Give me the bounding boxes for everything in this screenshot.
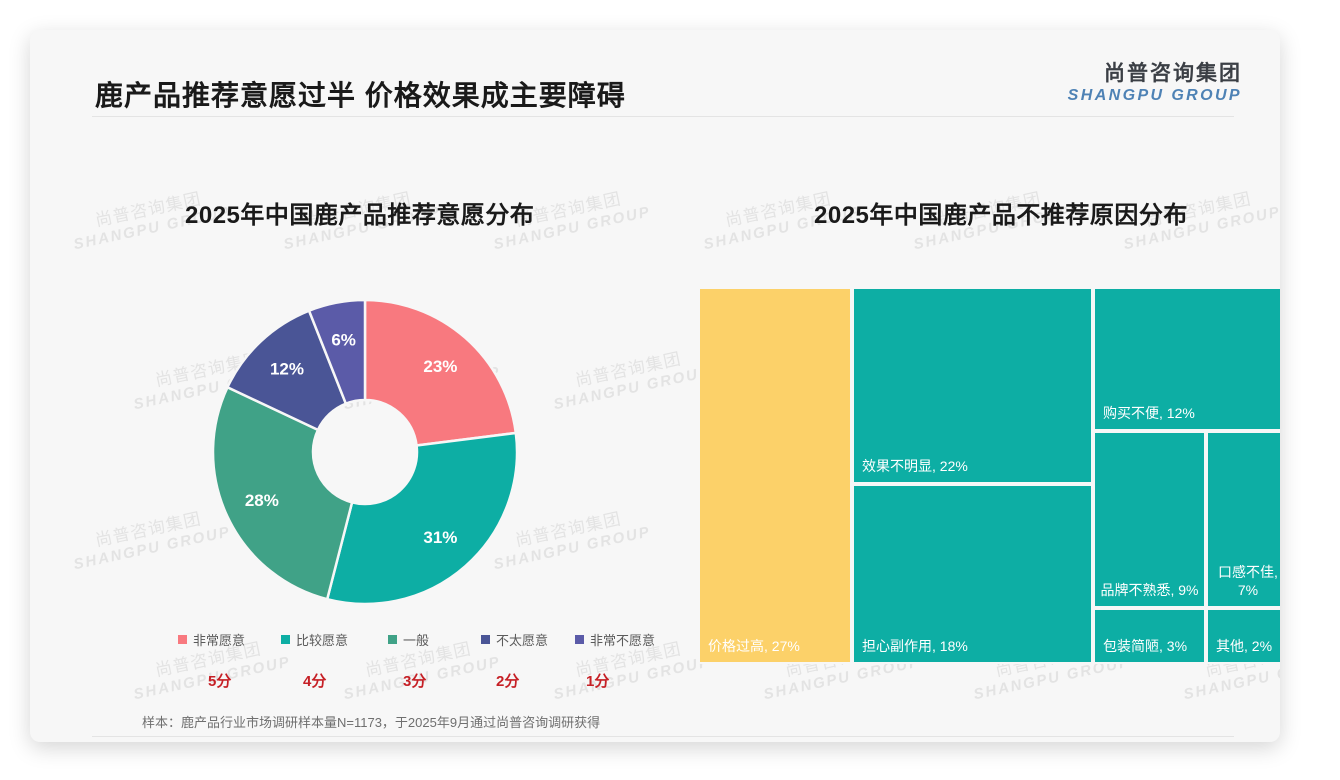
donut-slice-label: 23% [423, 357, 457, 376]
treemap-cell-label: 其他, 2% [1216, 637, 1280, 655]
treemap-cell[interactable]: 口感不佳, 7% [1206, 431, 1280, 608]
donut-slice[interactable] [213, 387, 352, 599]
legend-swatch [481, 635, 490, 644]
legend-swatch [178, 635, 187, 644]
treemap-cell[interactable]: 其他, 2% [1206, 608, 1280, 664]
legend-label: 非常愿意 [193, 630, 245, 649]
donut-legend: 非常愿意比较愿意一般不太愿意非常不愿意 [178, 630, 658, 652]
legend-swatch [281, 635, 290, 644]
legend-item[interactable]: 比较愿意 [281, 630, 348, 649]
recommendation-donut-chart: 23%31%28%12%6% [195, 282, 535, 622]
score-label: 3分 [403, 670, 426, 691]
legend-swatch [575, 635, 584, 644]
slide-card: 尚普咨询集团SHANGPU GROUP尚普咨询集团SHANGPU GROUP尚普… [30, 30, 1280, 742]
legend-swatch [388, 635, 397, 644]
page-title: 鹿产品推荐意愿过半 价格效果成主要障碍 [95, 74, 626, 114]
slide-header: 鹿产品推荐意愿过半 价格效果成主要障碍 尚普咨询集团 SHANGPU GROUP [30, 30, 1280, 122]
donut-slice[interactable] [327, 433, 517, 604]
donut-slice-label: 28% [245, 491, 279, 510]
treemap-cell[interactable]: 效果不明显, 22% [852, 287, 1093, 484]
legend-label: 比较愿意 [296, 630, 348, 649]
treemap-cell-label: 品牌不熟悉, 9% [1099, 581, 1200, 599]
logo-chinese-text: 尚普咨询集团 [1068, 62, 1242, 86]
legend-item[interactable]: 非常愿意 [178, 630, 245, 649]
slide-footer: ©2025.11 SHANGPU GROUP www.shangpu-china… [30, 737, 1280, 742]
legend-item[interactable]: 一般 [388, 630, 429, 649]
treemap-cell[interactable]: 包装简陋, 3% [1093, 608, 1206, 664]
treemap-cell-label: 担心副作用, 18% [862, 637, 1085, 655]
watermark-text: 尚普咨询集团SHANGPU GROUP [548, 344, 712, 413]
sample-note: 样本：鹿产品行业市场调研样本量N=1173，于2025年9月通过尚普咨询调研获得 [142, 712, 600, 731]
score-label: 5分 [208, 670, 231, 691]
donut-slice-label: 6% [331, 331, 356, 350]
legend-label: 非常不愿意 [590, 630, 655, 649]
donut-slice-label: 12% [270, 359, 304, 378]
legend-label: 不太愿意 [496, 630, 548, 649]
right-chart-title: 2025年中国鹿产品不推荐原因分布 [814, 195, 1188, 230]
header-divider [92, 116, 1234, 117]
treemap-cell-label: 价格过高, 27% [708, 637, 844, 655]
legend-item[interactable]: 不太愿意 [481, 630, 548, 649]
score-label: 4分 [303, 670, 326, 691]
treemap-cell-label: 购买不便, 12% [1103, 404, 1280, 422]
score-label: 2分 [496, 670, 519, 691]
donut-score-row: 5分4分3分2分1分 [178, 670, 658, 692]
treemap-cell-label: 效果不明显, 22% [862, 457, 1085, 475]
treemap-cell[interactable]: 价格过高, 27% [698, 287, 852, 664]
treemap-cell-label: 口感不佳, 7% [1212, 563, 1280, 599]
donut-slice-label: 31% [423, 528, 457, 547]
left-chart-title: 2025年中国鹿产品推荐意愿分布 [185, 195, 534, 230]
brand-logo: 尚普咨询集团 SHANGPU GROUP [1068, 62, 1242, 105]
legend-label: 一般 [403, 630, 429, 649]
logo-english-text: SHANGPU GROUP [1068, 86, 1242, 105]
treemap-cell[interactable]: 购买不便, 12% [1093, 287, 1280, 431]
donut-svg: 23%31%28%12%6% [195, 282, 535, 622]
reasons-treemap-chart: 价格过高, 27%效果不明显, 22%担心副作用, 18%购买不便, 12%品牌… [698, 287, 1280, 664]
treemap-cell-label: 包装简陋, 3% [1103, 637, 1198, 655]
treemap-cell[interactable]: 担心副作用, 18% [852, 484, 1093, 664]
legend-item[interactable]: 非常不愿意 [575, 630, 655, 649]
score-label: 1分 [586, 670, 609, 691]
treemap-cell[interactable]: 品牌不熟悉, 9% [1093, 431, 1206, 608]
